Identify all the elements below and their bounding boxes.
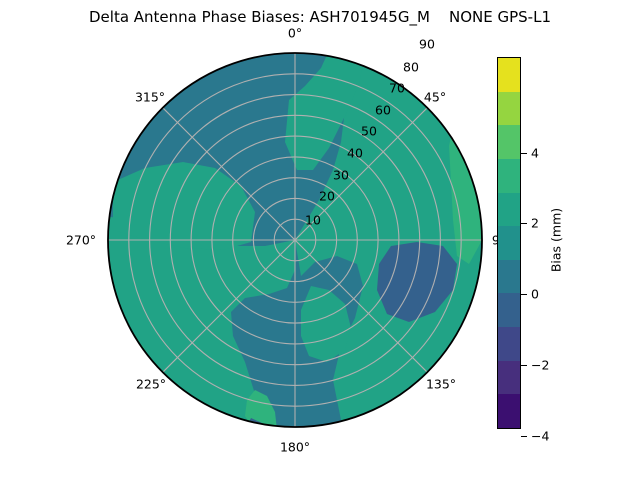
radial-label-10: 10 [305,213,321,228]
colorbar-tick-n2 [521,365,527,366]
colorbar-band-7 [498,293,520,327]
colorbar-ticklabel-4: 4 [531,146,539,161]
colorbar-band-2 [498,125,520,159]
colorbar-band-8 [498,327,520,361]
polar-plot-svg [105,50,485,430]
colorbar-band-10 [498,394,520,428]
colorbar-band-6 [498,260,520,294]
colorbar-band-5 [498,226,520,260]
theta-label-135: 135° [426,377,456,392]
theta-label-45: 45° [424,90,446,105]
radial-label-40: 40 [347,146,363,161]
colorbar-axis-label: Bias (mm) [549,208,564,272]
theta-label-270: 270° [66,233,96,248]
colorbar: 4 2 0 −2 −4 [497,57,521,429]
radial-label-60: 60 [375,103,391,118]
radial-label-90: 90 [419,37,435,52]
colorbar-band-0 [498,58,520,92]
radial-label-30: 30 [333,168,349,183]
colorbar-band-4 [498,193,520,227]
page-title: Delta Antenna Phase Biases: ASH701945G_M… [0,8,640,26]
colorbar-tick-0 [521,294,527,295]
colorbar-gradient [497,57,521,429]
polar-axes: 0° 45° 90° 135° 180° 225° 270° 315° 10 2… [105,50,485,430]
colorbar-tick-2 [521,223,527,224]
theta-label-0: 0° [288,26,302,41]
colorbar-ticklabel-2: 2 [531,216,539,231]
theta-label-315: 315° [135,90,165,105]
colorbar-ticklabel-n2: −2 [531,358,549,373]
angular-gridlines [108,53,482,427]
colorbar-band-9 [498,361,520,395]
colorbar-ticklabel-0: 0 [531,287,539,302]
colorbar-tick-n4 [521,436,527,437]
radial-label-50: 50 [361,124,377,139]
theta-label-180: 180° [280,440,310,455]
colorbar-band-1 [498,92,520,126]
colorbar-tick-4 [521,153,527,154]
theta-label-225: 225° [136,377,166,392]
colorbar-band-3 [498,159,520,193]
radial-label-80: 80 [403,60,419,75]
colorbar-ticklabel-n4: −4 [531,429,549,444]
polar-chart-figure: Delta Antenna Phase Biases: ASH701945G_M… [0,0,640,480]
radial-label-70: 70 [389,81,405,96]
radial-label-20: 20 [319,189,335,204]
